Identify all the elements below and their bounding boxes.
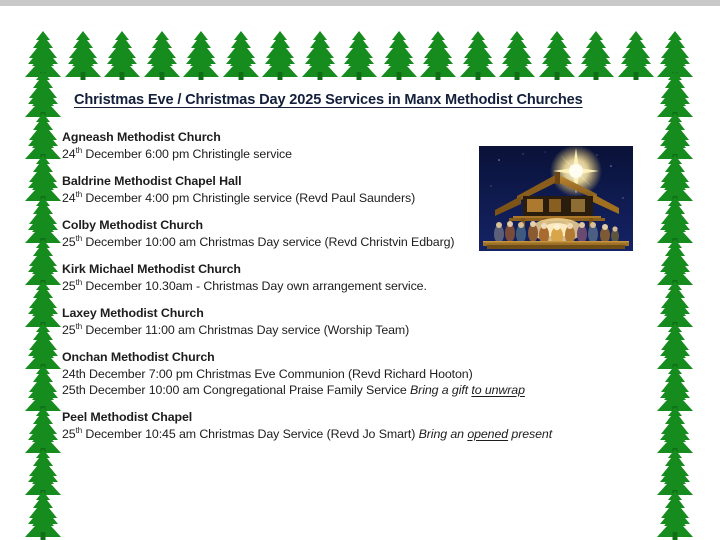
service-line: 25th December 10:45 am Christmas Day Ser… <box>62 427 648 441</box>
service-description: December 11:00 am Christmas Day service … <box>82 323 409 337</box>
tree-left-10 <box>20 488 66 540</box>
service-line: 24th December 6:00 pm Christingle servic… <box>62 147 648 161</box>
document-page: Christmas Eve / Christmas Day 2025 Servi… <box>0 6 720 540</box>
service-description: December 10:00 am Christmas Day service … <box>82 235 454 249</box>
church-name: Peel Methodist Chapel <box>62 410 648 424</box>
service-note-underlined: opened <box>467 427 508 441</box>
service-line: 25th December 10:00 am Congregational Pr… <box>62 383 648 397</box>
church-name: Baldrine Methodist Chapel Hall <box>62 174 648 188</box>
service-note-tail: present <box>508 427 552 441</box>
service-note-underlined: to unwrap <box>471 383 525 397</box>
church-name: Onchan Methodist Church <box>62 350 648 364</box>
service-line: 25th December 10:00 am Christmas Day ser… <box>62 235 648 249</box>
service-entry: Peel Methodist Chapel25th December 10:45… <box>62 410 648 441</box>
service-list: Agneash Methodist Church24th December 6:… <box>62 130 648 441</box>
service-line: 24th December 7:00 pm Christmas Eve Comm… <box>62 367 648 381</box>
service-line: 25th December 11:00 am Christmas Day ser… <box>62 323 648 337</box>
service-line: 25th December 10.30am - Christmas Day ow… <box>62 279 648 293</box>
service-date: 25 <box>62 427 76 441</box>
service-date: 24 <box>62 191 76 205</box>
service-description: December 4:00 pm Christingle service (Re… <box>82 191 415 205</box>
church-name: Colby Methodist Church <box>62 218 648 232</box>
service-date: 24th <box>62 367 86 381</box>
service-entry: Laxey Methodist Church25th December 11:0… <box>62 306 648 337</box>
service-date: 24 <box>62 147 76 161</box>
service-entry: Agneash Methodist Church24th December 6:… <box>62 130 648 161</box>
service-date: 25 <box>62 235 76 249</box>
tree-right-10 <box>652 488 698 540</box>
service-description: December 6:00 pm Christingle service <box>82 147 292 161</box>
church-name: Laxey Methodist Church <box>62 306 648 320</box>
service-entry: Baldrine Methodist Chapel Hall24th Decem… <box>62 174 648 205</box>
service-date: 25 <box>62 279 76 293</box>
church-name: Agneash Methodist Church <box>62 130 648 144</box>
church-name: Kirk Michael Methodist Church <box>62 262 648 276</box>
service-description: December 10:00 am Congregational Praise … <box>86 383 410 397</box>
service-date: 25 <box>62 323 76 337</box>
service-note-italic: Bring an <box>419 427 468 441</box>
service-entry: Colby Methodist Church25th December 10:0… <box>62 218 648 249</box>
document-content: Christmas Eve / Christmas Day 2025 Servi… <box>62 92 648 454</box>
page-title: Christmas Eve / Christmas Day 2025 Servi… <box>74 92 648 108</box>
service-description: December 10.30am - Christmas Day own arr… <box>82 279 427 293</box>
service-line: 24th December 4:00 pm Christingle servic… <box>62 191 648 205</box>
service-entry: Kirk Michael Methodist Church25th Decemb… <box>62 262 648 293</box>
service-description: December 7:00 pm Christmas Eve Communion… <box>86 367 473 381</box>
service-entry: Onchan Methodist Church24th December 7:0… <box>62 350 648 397</box>
service-date: 25th <box>62 383 86 397</box>
service-note-italic: Bring a gift <box>410 383 471 397</box>
service-description: December 10:45 am Christmas Day Service … <box>82 427 419 441</box>
